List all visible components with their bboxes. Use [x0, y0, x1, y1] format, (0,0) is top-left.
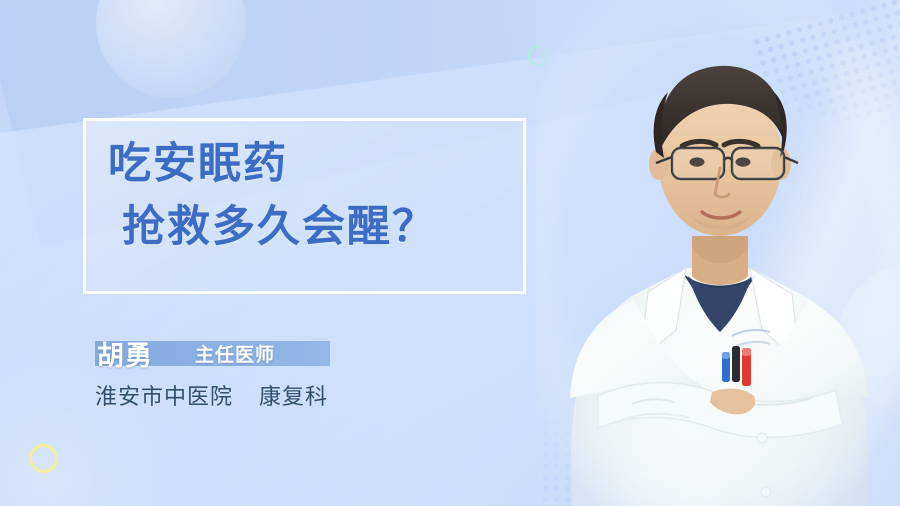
department-name: 康复科: [259, 384, 328, 409]
doctor-affiliation: 淮安市中医院康复科: [95, 379, 555, 411]
doctor-illustration: [536, 0, 900, 506]
title-line-2: 抢救多久会醒？: [108, 196, 538, 259]
doctor-info-row: 胡勇 主任医师: [97, 331, 517, 375]
doctor-title: 主任医师: [195, 340, 275, 367]
doctor-portrait: [536, 0, 900, 506]
doctor-qa-banner: 吃安眠药 抢救多久会醒？ 胡勇 主任医师 淮安市中医院康复科: [0, 0, 900, 506]
hospital-name: 淮安市中医院: [95, 384, 233, 409]
yellow-ring-icon: [29, 444, 58, 473]
doctor-name: 胡勇: [97, 334, 153, 373]
title-line-1: 吃安眠药: [108, 133, 538, 196]
page-title: 吃安眠药 抢救多久会醒？: [108, 133, 538, 259]
